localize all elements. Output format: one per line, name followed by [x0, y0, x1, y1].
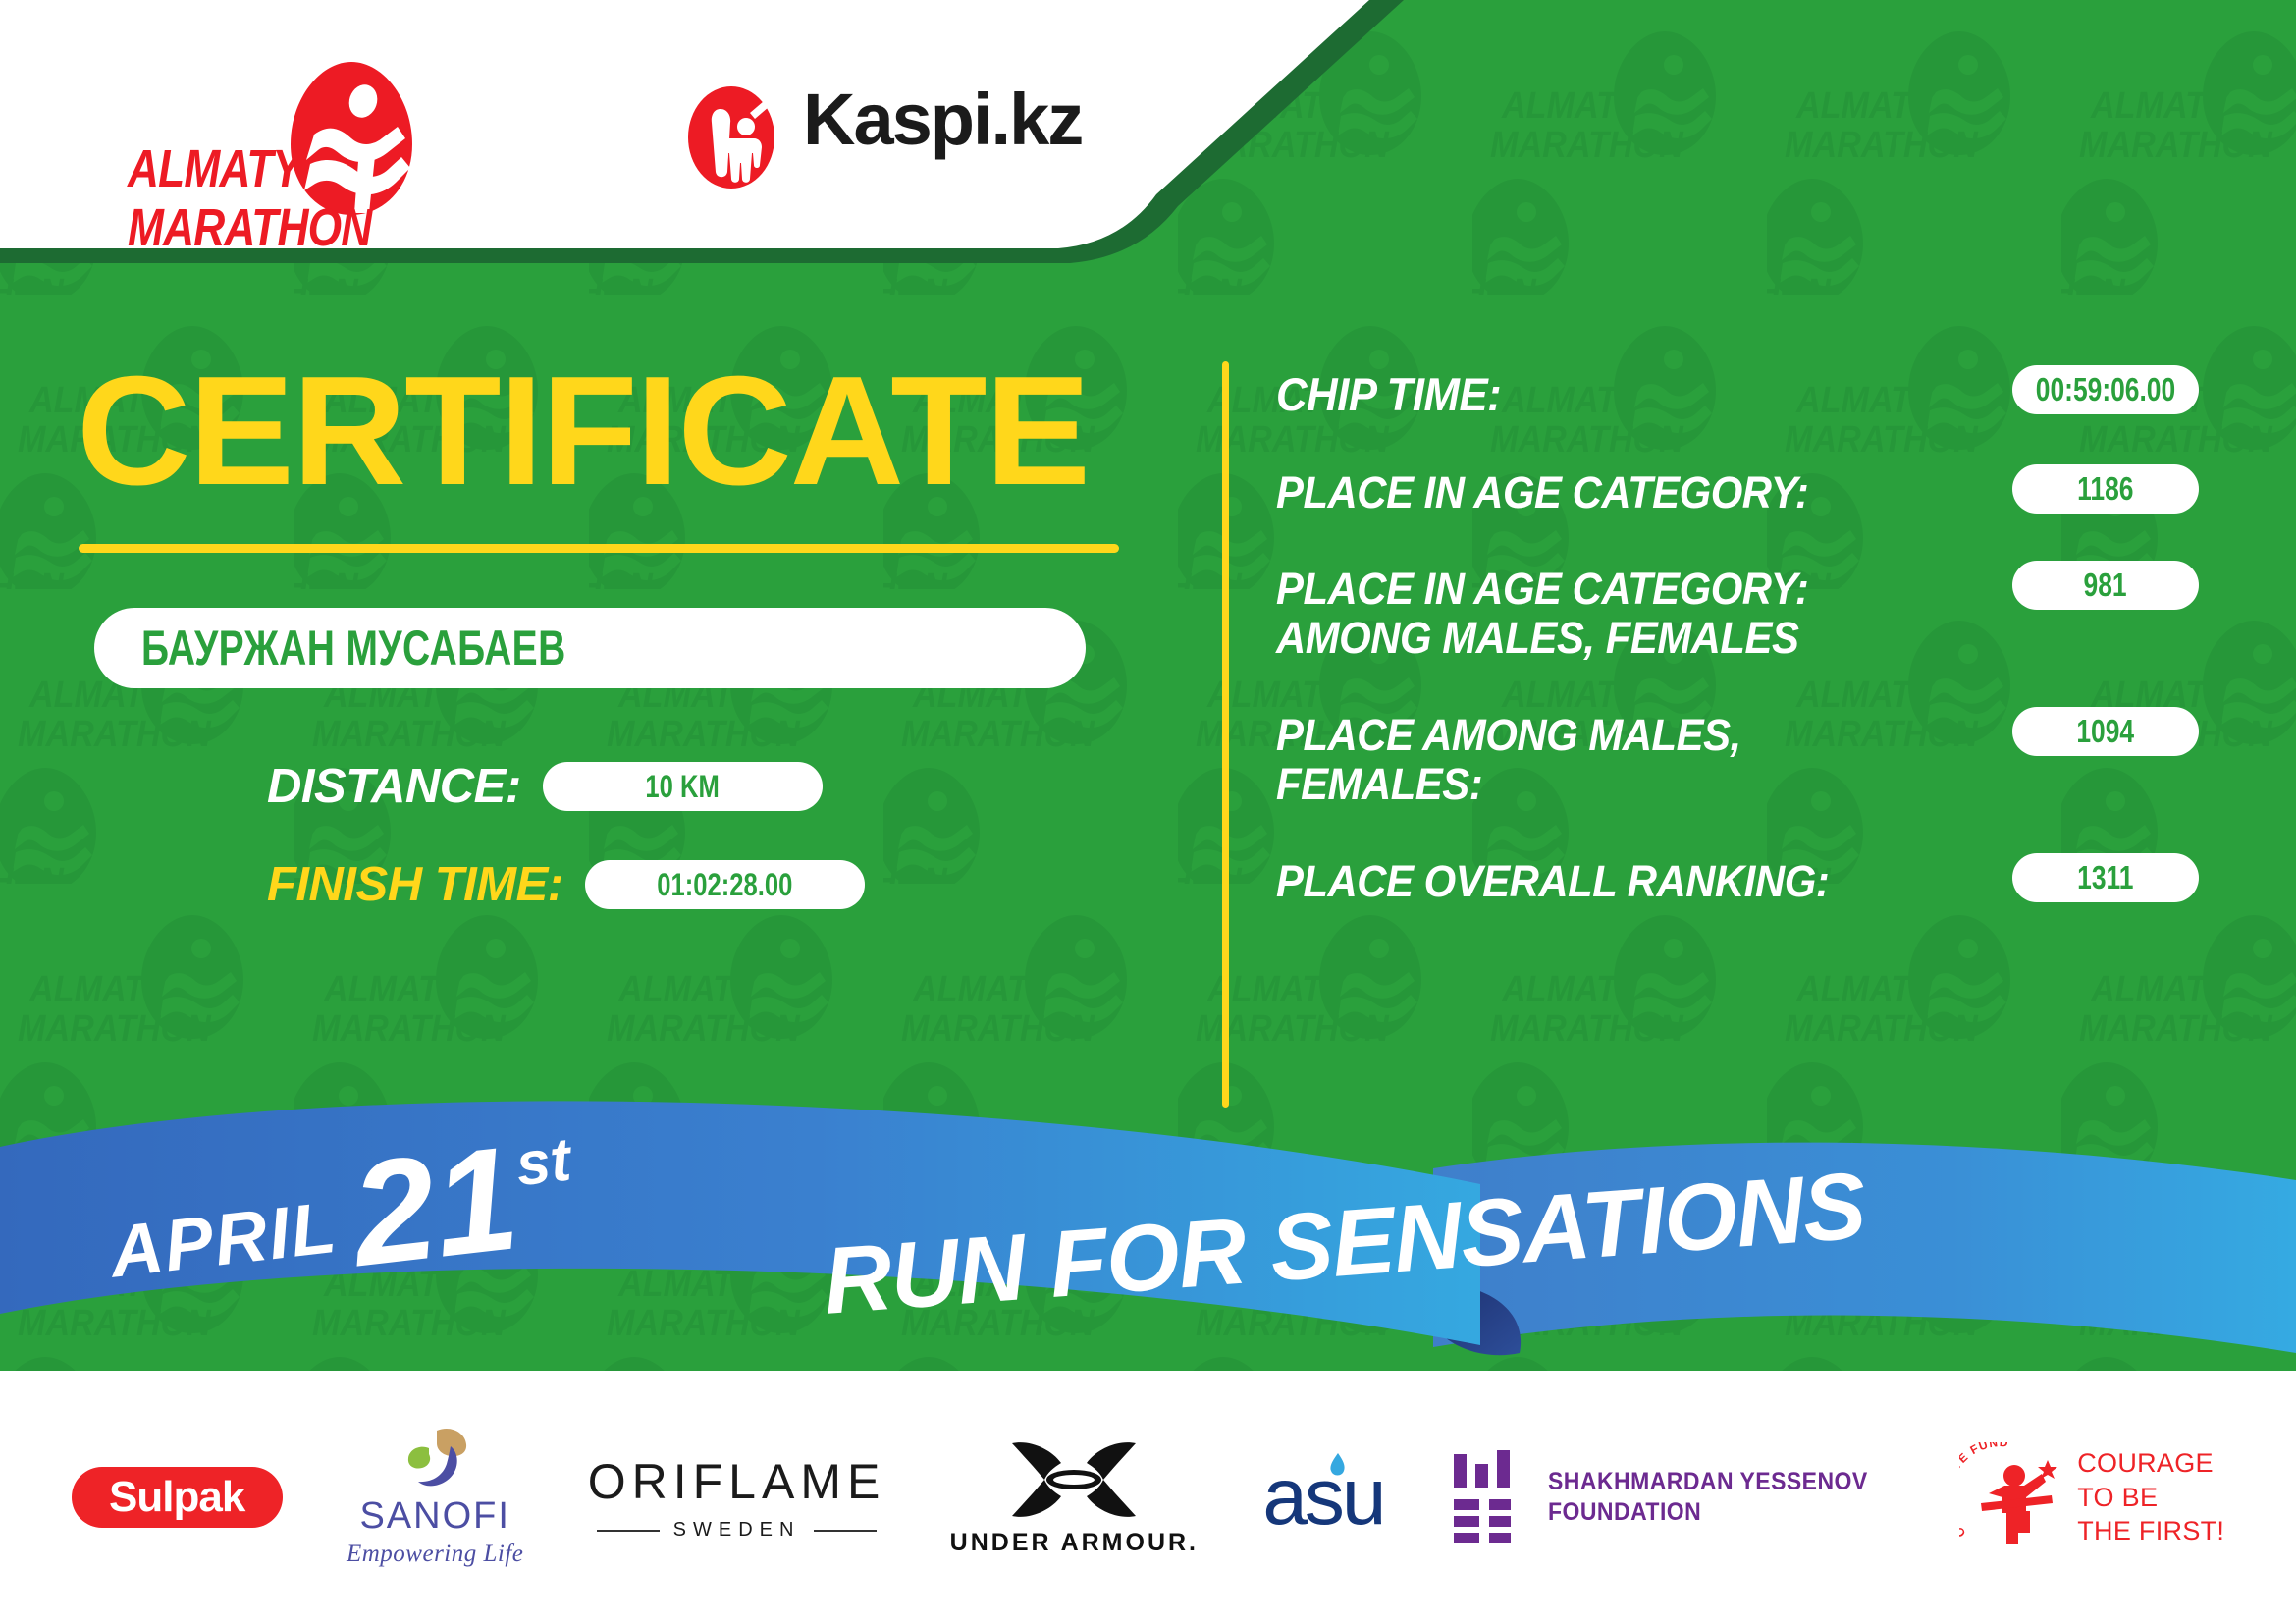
place-age-category-value-pill: 1186 [2012, 464, 2199, 514]
sanofi-tagline: Empowering Life [347, 1541, 523, 1568]
sponsor-sanofi: SANOFI Empowering Life [347, 1427, 523, 1568]
page-title: CERTIFICATE [77, 353, 1230, 509]
chip-time-label: CHIP TIME: [1276, 365, 1501, 421]
athlete-name-field[interactable]: БАУРЖАН МУСАБАЕВ [94, 608, 1086, 688]
sanofi-wordmark: SANOFI [359, 1495, 509, 1538]
kaspi-logo: Kaspi.kz [677, 83, 1090, 191]
place-among-gender-label: PLACE AMONG MALES,FEMALES: [1276, 707, 1741, 810]
sulpak-logo: Sulpak [72, 1467, 283, 1528]
kaspi-people-icon [677, 83, 785, 191]
sulpak-wordmark: Sulpak [109, 1473, 244, 1522]
place-age-category-label: PLACE IN AGE CATEGORY: [1276, 464, 1808, 517]
place-among-gender-value: 1094 [2077, 713, 2135, 750]
left-column: CERTIFICATE БАУРЖАН МУСАБАЕВ DISTANCE: 1… [0, 295, 1207, 912]
sanofi-icon [390, 1427, 480, 1491]
chip-time-value-pill: 00:59:06.00 [2012, 365, 2199, 414]
event-day-suffix: st [512, 1124, 574, 1200]
courage-line3: THE FIRST! [2077, 1514, 2224, 1548]
almaty-marathon-logo: ALMATY MARATHON [128, 54, 452, 216]
asu-drop-icon [1323, 1451, 1349, 1485]
finish-time-label: FINISH TIME: [267, 857, 563, 912]
finish-time-row: FINISH TIME: 01:02:28.00 [267, 857, 1207, 912]
oriflame-subtitle: SWEDEN [673, 1519, 801, 1542]
sponsor-asu: asu [1262, 1457, 1383, 1538]
oriflame-rule-right [814, 1530, 877, 1532]
event-day: 21 [347, 1132, 524, 1279]
right-column: CHIP TIME: 00:59:06.00 PLACE IN AGE CATE… [1276, 365, 2199, 949]
almaty-wordmark-line2: MARATHON [128, 197, 371, 258]
sponsor-courage-fund: CORPORATE FUND COURAGE TO BE THE FIRST! [1959, 1442, 2224, 1552]
place-age-category-gender-label: PLACE IN AGE CATEGORY:AMONG MALES, FEMAL… [1276, 561, 1808, 664]
under-armour-icon [1004, 1437, 1144, 1522]
place-age-category-row: PLACE IN AGE CATEGORY: 1186 [1276, 464, 2199, 517]
place-among-gender-value-pill: 1094 [2012, 707, 2199, 756]
place-overall-value: 1311 [2077, 859, 2133, 896]
courage-line2: TO BE [2077, 1481, 2224, 1515]
chip-time-value: 00:59:06.00 [2036, 371, 2175, 408]
sponsor-yessenov-foundation: SHAKHMARDAN YESSENOV FOUNDATION [1448, 1450, 1896, 1544]
certificate-canvas: ALMATY MARATHON ALMATY MARATHON [0, 0, 2296, 1624]
place-overall-row: PLACE OVERALL RANKING: 1311 [1276, 853, 2199, 906]
athlete-name-value: БАУРЖАН МУСАБАЕВ [141, 620, 566, 677]
distance-value: 10 KM [645, 769, 719, 805]
place-age-category-gender-row: PLACE IN AGE CATEGORY:AMONG MALES, FEMAL… [1276, 561, 2199, 664]
finish-time-value-pill: 01:02:28.00 [585, 860, 865, 909]
event-month: APRIL [106, 1185, 342, 1294]
sponsor-under-armour: UNDER ARMOUR. [950, 1437, 1199, 1557]
yessenov-line1: SHAKHMARDAN YESSENOV [1548, 1467, 1868, 1497]
oriflame-wordmark: ORIFLAME [588, 1453, 886, 1510]
under-armour-wordmark: UNDER ARMOUR. [950, 1529, 1199, 1557]
courage-line1: COURAGE [2077, 1446, 2224, 1481]
column-divider [1222, 361, 1229, 1108]
kaspi-wordmark: Kaspi.kz [803, 78, 1082, 161]
place-age-category-gender-value-pill: 981 [2012, 561, 2199, 610]
yessenov-bars-icon [1448, 1450, 1528, 1544]
courage-logo: CORPORATE FUND COURAGE TO BE THE FIRST! [1959, 1442, 2224, 1552]
yessenov-logo: SHAKHMARDAN YESSENOV FOUNDATION [1448, 1450, 1896, 1544]
yessenov-line2: FOUNDATION [1548, 1497, 1868, 1528]
place-overall-label: PLACE OVERALL RANKING: [1276, 853, 1829, 906]
sponsor-strip: Sulpak SANOFI Empowering Life ORIFLAME S… [0, 1371, 2296, 1624]
oriflame-rule-left [597, 1530, 660, 1532]
courage-text: COURAGE TO BE THE FIRST! [2077, 1446, 2224, 1548]
chip-time-row: CHIP TIME: 00:59:06.00 [1276, 365, 2199, 421]
oriflame-sub-wrap: SWEDEN [597, 1519, 877, 1542]
place-age-category-value: 1186 [2077, 470, 2133, 508]
title-underline [79, 544, 1119, 553]
almaty-wordmark-line1: ALMATY [128, 138, 300, 199]
distance-value-pill: 10 KM [543, 762, 823, 811]
place-overall-value-pill: 1311 [2012, 853, 2199, 902]
sponsor-oriflame: ORIFLAME SWEDEN [588, 1453, 886, 1542]
courage-runner-icon: CORPORATE FUND [1959, 1442, 2065, 1552]
finish-time-value: 01:02:28.00 [657, 867, 792, 903]
place-age-category-gender-value: 981 [2084, 567, 2127, 604]
yessenov-text: SHAKHMARDAN YESSENOV FOUNDATION [1548, 1467, 1896, 1529]
sponsor-sulpak: Sulpak [72, 1467, 283, 1528]
distance-label: DISTANCE: [267, 759, 521, 814]
distance-row: DISTANCE: 10 KM [267, 759, 1207, 814]
place-among-gender-row: PLACE AMONG MALES,FEMALES: 1094 [1276, 707, 2199, 810]
